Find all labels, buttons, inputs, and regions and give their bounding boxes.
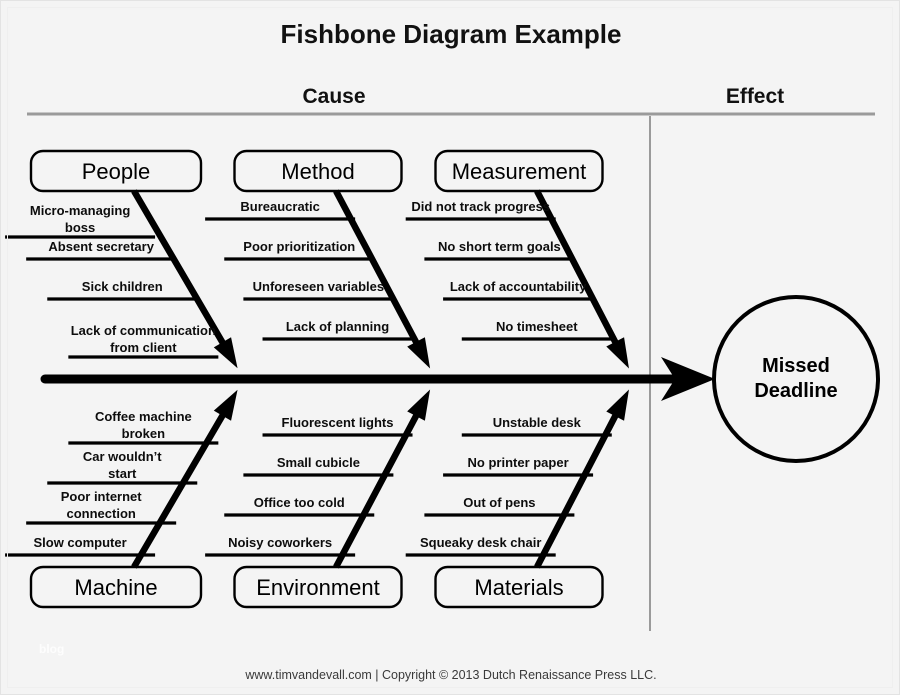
footer-copyright: www.timvandevall.com | Copyright © 2013 …: [244, 668, 656, 682]
effect-header: Effect: [726, 85, 784, 108]
effect-label-line1: Missed: [762, 355, 830, 377]
rib-arrowhead-icon-materials: [606, 389, 629, 420]
rib-arrowhead-icon-machine: [214, 390, 238, 421]
category-label-environment: Environment: [256, 575, 380, 600]
cause-label-machine-2: Poor internet: [61, 489, 143, 504]
cause-label-people-0: Micro-managing: [30, 203, 130, 218]
fishbone-diagram-page: Fishbone Diagram Example Cause Effect Pe…: [0, 0, 900, 695]
cause-label-measurement-2: Lack of accountability: [450, 279, 587, 294]
cause-label-environment-3: Noisy coworkers: [228, 535, 332, 550]
category-label-measurement: Measurement: [452, 159, 587, 184]
cause-label-machine-1: start: [108, 466, 137, 481]
cause-label-people-3: Lack of communication: [71, 323, 216, 338]
cause-label-measurement-1: No short term goals: [438, 239, 561, 254]
cause-label-materials-3: Squeaky desk chair: [420, 535, 541, 550]
cause-label-method-2: Unforeseen variables: [253, 279, 385, 294]
fishbone-diagram-canvas: Fishbone Diagram Example Cause Effect Pe…: [1, 1, 900, 695]
cause-label-people-3: from client: [110, 340, 177, 355]
watermark-label: blog: [39, 642, 64, 656]
cause-label-people-2: Sick children: [82, 279, 163, 294]
rib-arrowhead-icon-method: [407, 337, 430, 368]
cause-label-materials-2: Out of pens: [463, 495, 535, 510]
category-label-materials: Materials: [474, 575, 563, 600]
cause-label-environment-0: Fluorescent lights: [282, 415, 394, 430]
effect-label-line2: Deadline: [754, 380, 837, 402]
category-label-machine: Machine: [74, 575, 157, 600]
cause-label-people-1: Absent secretary: [48, 239, 154, 254]
cause-label-method-3: Lack of planning: [286, 319, 389, 334]
category-label-people: People: [82, 159, 151, 184]
cause-label-measurement-0: Did not track progress: [411, 199, 550, 214]
cause-label-machine-0: Coffee machine: [95, 409, 192, 424]
page-title: Fishbone Diagram Example: [281, 19, 622, 49]
cause-label-environment-1: Small cubicle: [277, 455, 360, 470]
cause-label-machine-0: broken: [122, 426, 165, 441]
cause-label-machine-2: connection: [67, 506, 136, 521]
cause-label-machine-3: Slow computer: [33, 535, 126, 550]
category-label-method: Method: [281, 159, 354, 184]
cause-label-environment-2: Office too cold: [254, 495, 345, 510]
rib-arrowhead-icon-people: [214, 337, 238, 368]
cause-label-materials-1: No printer paper: [468, 455, 569, 470]
cause-label-method-0: Bureaucratic: [240, 199, 319, 214]
cause-label-measurement-3: No timesheet: [496, 319, 578, 334]
cause-label-people-0: boss: [65, 220, 95, 235]
cause-label-materials-0: Unstable desk: [493, 415, 582, 430]
cause-label-method-1: Poor prioritization: [243, 239, 355, 254]
rib-arrowhead-icon-environment: [407, 390, 430, 421]
cause-label-machine-1: Car wouldn’t: [83, 449, 162, 464]
rib-arrowhead-icon-measurement: [606, 337, 629, 368]
cause-header: Cause: [302, 85, 365, 108]
effect-circle: [714, 297, 878, 461]
